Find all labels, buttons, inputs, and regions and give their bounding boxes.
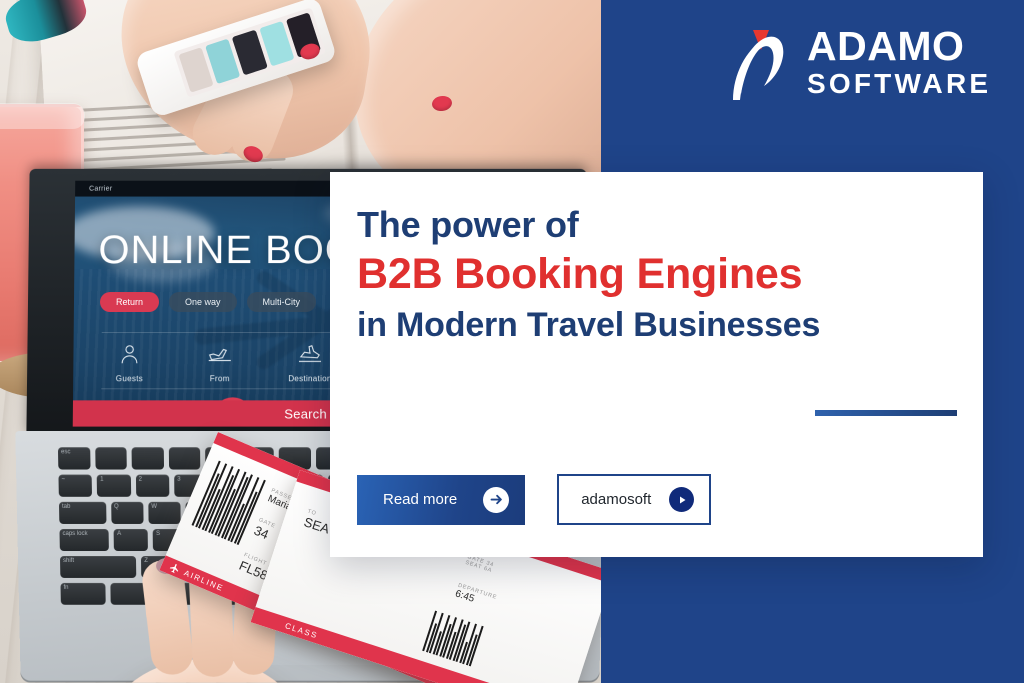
play-icon <box>669 487 694 512</box>
swoosh-icon <box>731 22 793 102</box>
adamo-software-logo[interactable]: ADAMO SOFTWARE <box>731 18 993 106</box>
tab-multi-city[interactable]: Multi-City <box>247 292 317 312</box>
gate-field: GATE 34 <box>252 517 277 543</box>
field-guests[interactable]: Guests <box>101 343 157 383</box>
plane-landing-icon <box>297 343 323 365</box>
field-label: From <box>192 374 248 383</box>
adamosoft-label: adamosoft <box>581 491 651 508</box>
field-label: Guests <box>101 374 157 383</box>
field-from[interactable]: From <box>192 343 248 383</box>
plane-icon <box>168 561 182 575</box>
barcode <box>422 611 483 667</box>
cta-group: Read more adamosoft <box>357 474 711 525</box>
destination-field: TO SEA <box>302 509 333 537</box>
adamosoft-button[interactable]: adamosoft <box>557 474 711 525</box>
accent-divider <box>815 410 957 416</box>
content-card: The power of B2B Booking Engines in Mode… <box>330 172 983 557</box>
carrier-label: Carrier <box>89 185 112 192</box>
adamo-swoosh-logo-mark <box>731 22 793 102</box>
trip-type-tabs[interactable]: Return One way Multi-City <box>100 292 316 312</box>
headline-block: The power of B2B Booking Engines in Mode… <box>357 204 957 345</box>
gate-seat-field: GATE 34 SEAT 6A <box>465 554 495 574</box>
logo-line-adamo: ADAMO <box>807 26 991 67</box>
person-icon <box>118 343 140 365</box>
tab-return[interactable]: Return <box>100 292 159 312</box>
logo-wordmark: ADAMO SOFTWARE <box>807 26 991 98</box>
logo-line-software: SOFTWARE <box>807 70 991 98</box>
plane-takeoff-icon <box>207 343 233 365</box>
read-more-button[interactable]: Read more <box>357 475 525 525</box>
headline-line-1: The power of <box>357 204 957 246</box>
headline-line-2: B2B Booking Engines <box>357 249 957 300</box>
marketing-banner: Carrier 1:27 PM ONLINE BOOKING Return On… <box>0 0 1024 683</box>
arrow-right-icon <box>483 487 509 513</box>
read-more-label: Read more <box>383 491 457 508</box>
departure-field: DEPARTURE 6:45 <box>454 583 498 612</box>
headline-line-3: in Modern Travel Businesses <box>357 305 957 345</box>
tab-one-way[interactable]: One way <box>169 292 237 312</box>
